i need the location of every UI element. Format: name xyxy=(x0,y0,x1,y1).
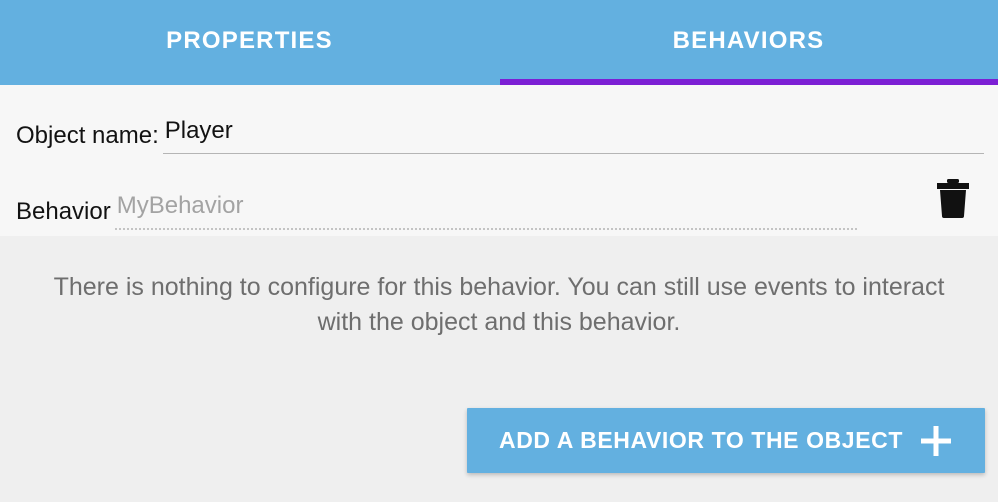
tab-behaviors-label: BEHAVIORS xyxy=(673,27,825,55)
object-name-input-wrap[interactable]: Player xyxy=(163,119,984,160)
add-behavior-button-label: ADD A BEHAVIOR TO THE OBJECT xyxy=(499,427,903,454)
object-name-label: Object name: xyxy=(16,124,159,160)
behavior-name-input[interactable]: MyBehavior xyxy=(115,194,857,228)
object-name-input[interactable]: Player xyxy=(163,119,984,153)
action-row: ADD A BEHAVIOR TO THE OBJECT xyxy=(0,408,985,473)
active-tab-indicator xyxy=(500,79,998,85)
behavior-label: Behavior xyxy=(16,200,111,236)
trash-icon xyxy=(935,179,971,224)
tab-behaviors[interactable]: BEHAVIORS xyxy=(499,0,998,85)
no-configuration-message: There is nothing to configure for this b… xyxy=(0,236,998,339)
add-behavior-button[interactable]: ADD A BEHAVIOR TO THE OBJECT xyxy=(467,408,985,473)
form-section: Object name: Player Behavior MyBehavior xyxy=(0,85,998,236)
behavior-content-area: There is nothing to configure for this b… xyxy=(0,236,998,502)
tab-properties[interactable]: PROPERTIES xyxy=(0,0,499,85)
delete-behavior-button[interactable] xyxy=(922,170,984,232)
behavior-row: Behavior MyBehavior xyxy=(0,160,998,236)
object-name-underline xyxy=(163,153,984,154)
tab-properties-label: PROPERTIES xyxy=(166,27,333,55)
behavior-input-wrap[interactable]: MyBehavior xyxy=(115,194,857,236)
tab-bar: PROPERTIES BEHAVIORS xyxy=(0,0,998,85)
object-name-row: Object name: Player xyxy=(0,85,998,160)
behavior-name-underline xyxy=(115,228,857,230)
plus-icon xyxy=(919,424,953,458)
behaviors-panel: PROPERTIES BEHAVIORS Object name: Player… xyxy=(0,0,998,502)
